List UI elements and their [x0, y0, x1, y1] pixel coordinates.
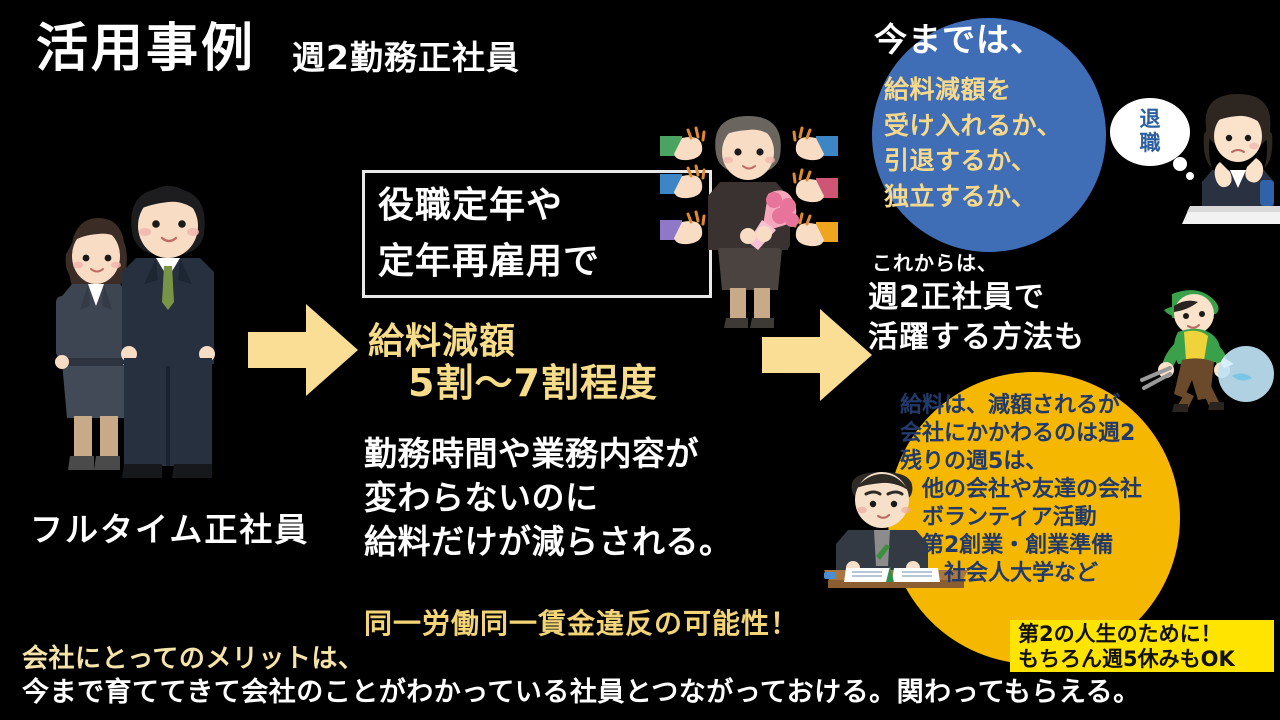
arrow-right-2-icon [762, 305, 872, 405]
arrow-right-1-icon [248, 300, 358, 400]
worried-office-woman-illustration: 退 職 [1108, 88, 1280, 230]
center-box-text: 役職定年や 定年再雇用で [378, 178, 600, 290]
future-heading: 週2正社員で 活躍する方法も [868, 278, 1085, 358]
svg-text:職: 職 [1140, 131, 1161, 155]
fulltime-employee-label: フルタイム正社員 [30, 512, 309, 549]
past-options-text: 給料減額を 受け入れるか、 引退するか、 独立するか、 [884, 72, 1062, 214]
bottom-merit-heading: 会社にとってのメリットは、 [22, 645, 364, 674]
thought-bubble-shape: 退 職 [1110, 98, 1194, 180]
future-pre-heading: これからは、 [872, 252, 998, 274]
center-description: 勤務時間や業務内容が 変わらないのに 給料だけが減らされる。 [364, 432, 733, 564]
page-title: 活用事例 [36, 20, 256, 78]
violation-note: 同一労働同一賃金違反の可能性！ [364, 608, 799, 639]
business-couple-illustration [28, 170, 258, 500]
slide-canvas: 活用事例 週2勤務正社員 [0, 0, 1280, 720]
future-options-text: 給料は、減額されるが 会社にかかわるのは週2 残りの週5は、 他の会社や友達の会… [900, 392, 1142, 588]
pay-cut-range: 5割〜7割程度 [408, 362, 658, 405]
past-heading: 今までは、 [874, 22, 1044, 59]
second-life-badge-text: 第2の人生のために！ もちろん週5休みもOK [1018, 622, 1235, 672]
volunteer-litter-picking-illustration [1138, 288, 1280, 420]
svg-text:退: 退 [1140, 107, 1161, 131]
bottom-merit-detail: 今まで育ててきて会社のことがわかっている社員とつながっておける。関わってもらえる… [22, 678, 1141, 708]
pay-cut-label: 給料減額 [368, 322, 516, 362]
page-subtitle: 週2勤務正社員 [292, 40, 520, 77]
